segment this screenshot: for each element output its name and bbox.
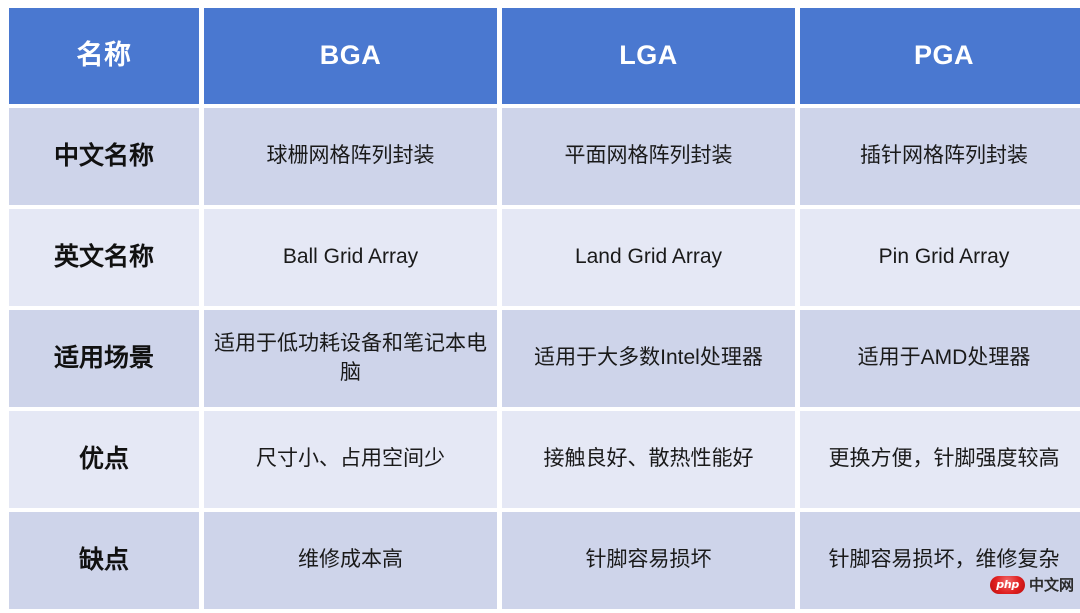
watermark-site-name: 中文网 (1029, 574, 1074, 595)
row-label-chinese-name: 中文名称 (9, 108, 199, 205)
column-header-pga: PGA (800, 8, 1080, 104)
cell-english-name-pga: Pin Grid Array (800, 209, 1080, 306)
cell-use-case-lga: 适用于大多数Intel处理器 (502, 310, 795, 407)
cell-chinese-name-bga: 球栅网格阵列封装 (204, 108, 497, 205)
table-header: 名称 BGA LGA PGA (9, 8, 1080, 104)
header-row: 名称 BGA LGA PGA (9, 8, 1080, 104)
table-row: 英文名称 Ball Grid Array Land Grid Array Pin… (9, 209, 1080, 306)
table-row: 中文名称 球栅网格阵列封装 平面网格阵列封装 插针网格阵列封装 (9, 108, 1080, 205)
row-label-use-case: 适用场景 (9, 310, 199, 407)
comparison-table-container: 名称 BGA LGA PGA 中文名称 球栅网格阵列封装 平面网格阵列封装 插针… (4, 4, 1076, 590)
cell-chinese-name-lga: 平面网格阵列封装 (502, 108, 795, 205)
php-logo-icon: php (990, 576, 1025, 594)
cell-advantages-lga: 接触良好、散热性能好 (502, 411, 795, 508)
table-row: 优点 尺寸小、占用空间少 接触良好、散热性能好 更换方便，针脚强度较高 (9, 411, 1080, 508)
watermark: php 中文网 (990, 574, 1074, 595)
column-header-bga: BGA (204, 8, 497, 104)
cell-chinese-name-pga: 插针网格阵列封装 (800, 108, 1080, 205)
cell-english-name-bga: Ball Grid Array (204, 209, 497, 306)
cell-use-case-bga: 适用于低功耗设备和笔记本电脑 (204, 310, 497, 407)
cell-advantages-pga: 更换方便，针脚强度较高 (800, 411, 1080, 508)
cell-disadvantages-bga: 维修成本高 (204, 512, 497, 609)
row-label-advantages: 优点 (9, 411, 199, 508)
package-comparison-table: 名称 BGA LGA PGA 中文名称 球栅网格阵列封装 平面网格阵列封装 插针… (4, 4, 1080, 613)
column-header-lga: LGA (502, 8, 795, 104)
table-body: 中文名称 球栅网格阵列封装 平面网格阵列封装 插针网格阵列封装 英文名称 Bal… (9, 108, 1080, 609)
cell-english-name-lga: Land Grid Array (502, 209, 795, 306)
cell-use-case-pga: 适用于AMD处理器 (800, 310, 1080, 407)
row-label-english-name: 英文名称 (9, 209, 199, 306)
table-row: 适用场景 适用于低功耗设备和笔记本电脑 适用于大多数Intel处理器 适用于AM… (9, 310, 1080, 407)
row-label-disadvantages: 缺点 (9, 512, 199, 609)
cell-disadvantages-lga: 针脚容易损坏 (502, 512, 795, 609)
cell-advantages-bga: 尺寸小、占用空间少 (204, 411, 497, 508)
table-row: 缺点 维修成本高 针脚容易损坏 针脚容易损坏，维修复杂 (9, 512, 1080, 609)
column-header-name: 名称 (9, 8, 199, 104)
